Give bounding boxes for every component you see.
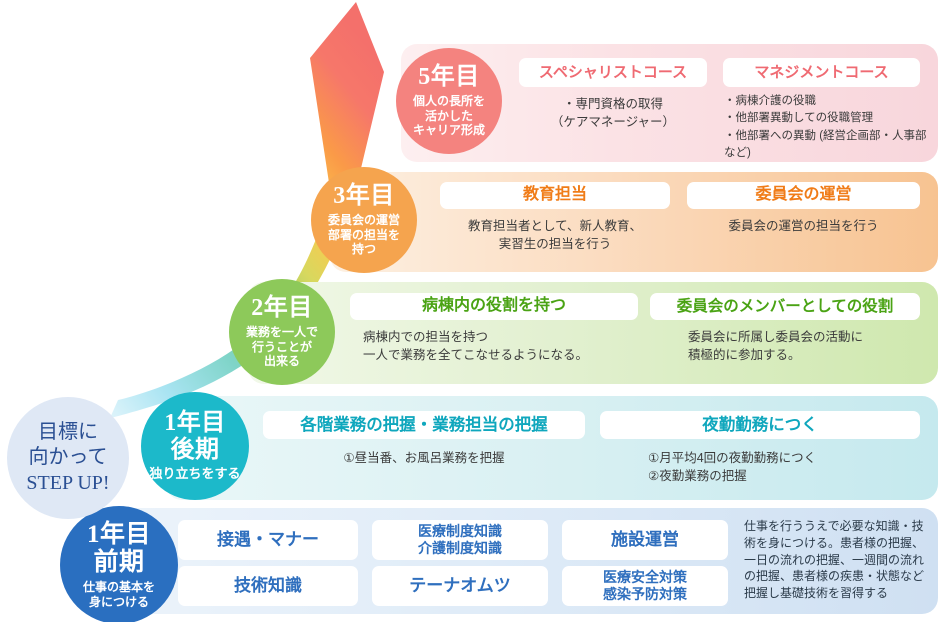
stage-subtitle: 委員会の運営 部署の担当を 持つ [328,213,400,257]
body-year2-col2: 委員会に所属し委員会の活動に 積極的に参加する。 [688,328,938,364]
stage-subtitle: 仕事の基本を 身につける [83,580,155,609]
stage-year-label: 2年目 [251,295,313,322]
body-year5-col2: ・病棟介護の役職 ・他部署異動しての役職管理 ・他部署への異動 (経営企画部・人… [724,93,936,162]
pill-year1-late-col1[interactable]: 各階業務の把握・業務担当の把握 [263,411,585,439]
stage-year-label: 1年目 後期 [164,410,226,464]
pill-year1-late-col2[interactable]: 夜勤勤務につく [600,411,920,439]
stage-year-label: 3年目 [333,183,395,210]
stage-circle-year3[interactable]: 3年目 委員会の運営 部署の担当を 持つ [311,167,417,273]
stage-circle-year2[interactable]: 2年目 業務を一人で 行うことが 出来る [229,279,335,385]
body-year5-col1: ・専門資格の取得 （ケアマネージャー） [519,95,707,131]
pill-year2-col2[interactable]: 委員会のメンバーとしての役割 [650,293,920,320]
stage-note-year1-early: 仕事を行ううえで必要な知識・技術を身につける。患者様の把握、一日の流れの把握、一… [744,518,934,602]
pill-year5-col2[interactable]: マネジメントコース [723,58,920,87]
body-year2-col1: 病棟内での担当を持つ 一人で業務を全てこなせるようになる。 [363,328,653,364]
body-year1-late-col1: ①昼当番、お風呂業務を把握 [263,449,585,467]
stage-subtitle: 業務を一人で 行うことが 出来る [246,325,318,369]
skill-pill-6[interactable]: 医療安全対策 感染予防対策 [562,566,728,606]
pill-year2-col1[interactable]: 病棟内の役割を持つ [350,293,638,320]
stage-subtitle: 独り立ちをする [149,466,240,482]
stage-circle-year1-late[interactable]: 1年目 後期 独り立ちをする [141,392,249,500]
skill-pill-4[interactable]: 技術知識 [178,566,358,606]
pill-year3-col1[interactable]: 教育担当 [440,182,670,209]
body-year3-col2: 委員会の運営の担当を行う [687,217,920,235]
goal-circle[interactable]: 目標に 向かって STEP UP! [7,397,129,519]
stage-circle-year1-early[interactable]: 1年目 前期 仕事の基本を 身につける [60,506,178,622]
stage-subtitle: 個人の長所を 活かした キャリア形成 [413,94,485,138]
skill-pill-5[interactable]: テーナオムツ [372,566,548,606]
skill-pill-2[interactable]: 医療制度知識 介護制度知識 [372,520,548,560]
pill-year3-col2[interactable]: 委員会の運営 [687,182,920,209]
stage-year-label: 1年目 前期 [87,521,151,577]
career-path-diagram: 5年目 個人の長所を 活かした キャリア形成 スペシャリストコース マネジメント… [0,0,938,622]
stage-year-label: 5年目 [418,64,480,91]
pill-year5-col1[interactable]: スペシャリストコース [519,58,707,87]
body-year1-late-col2: ①月平均4回の夜勤勤務につく ②夜勤業務の把握 [648,449,938,485]
skill-pill-3[interactable]: 施設運営 [562,520,728,560]
skill-pill-1[interactable]: 接遇・マナー [178,520,358,560]
body-year3-col1: 教育担当者として、新人教育、 実習生の担当を行う [440,217,670,253]
stage-circle-year5[interactable]: 5年目 個人の長所を 活かした キャリア形成 [396,48,502,154]
